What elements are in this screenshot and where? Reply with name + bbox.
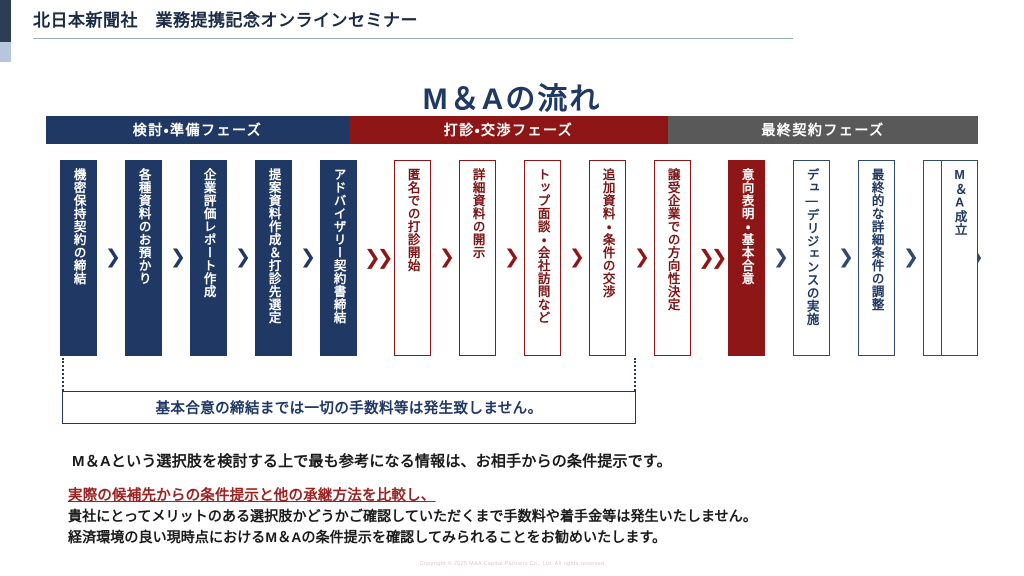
separator-chevron-7: ❯ <box>569 248 585 267</box>
separator-chevron-2: ❯ <box>170 248 186 267</box>
step-label-11: 意向表明・基本合意 <box>738 168 754 285</box>
body-line-2: 貴社にとってメリットのある選択肢かどうかご確認していただくまで手数料や着手金等は… <box>68 506 948 527</box>
step-box-4[interactable]: 提案資料作成＆打診先選定 <box>255 160 292 356</box>
phase-segment-final-contract: 最終契約フェーズ <box>668 116 978 144</box>
step-label-1: 機密保持契約の締結 <box>70 168 86 285</box>
fee-notice-callout: 基本合意の締結までは一切の手数料等は発生致しません。 <box>62 391 636 424</box>
step-box-11[interactable]: 意向表明・基本合意 <box>728 160 765 356</box>
step-box-14-dup <box>923 160 960 356</box>
phase-bar: 検討・準備フェーズ 打診・交渉フェーズ 最終契約フェーズ <box>46 116 978 144</box>
step-label-2: 各種資料のお預かり <box>135 168 151 285</box>
step-box-9[interactable]: 追加資料・条件の交渉 <box>589 160 626 356</box>
step-box-2[interactable]: 各種資料のお預かり <box>125 160 162 356</box>
body-line-3: 経済環境の良い現時点におけるM＆Aの条件提示を確認してみられることをお勧めいたし… <box>68 527 948 548</box>
header-divider <box>33 38 793 39</box>
page-title: M＆Aの流れ <box>0 74 1024 118</box>
step-box-6[interactable]: 匿名での打診開始 <box>394 160 431 356</box>
step-box-8[interactable]: トップ面談・会社訪問など <box>524 160 561 356</box>
flow-steps-row: 機密保持契約の締結 ❯ 各種資料のお預かり ❯ 企業評価レポート作成 ❯ 提案資… <box>46 160 978 360</box>
connector-dotted-right <box>634 358 636 391</box>
separator-chevron-9: ❯ <box>773 248 789 267</box>
step-label-10: 譲受企業での方向性決定 <box>664 168 680 311</box>
step-box-7[interactable]: 詳細資料の開示 <box>459 160 496 356</box>
body-line-emphasis: 実際の候補先からの条件提示と他の承継方法を比較し、 <box>68 486 948 506</box>
step-box-3[interactable]: 企業評価レポート作成 <box>190 160 227 356</box>
step-label-6: 匿名での打診開始 <box>404 168 420 272</box>
header-title: 北日本新聞社 業務提携記念オンラインセミナー <box>33 8 793 34</box>
step-label-3: 企業評価レポート作成 <box>200 168 216 298</box>
separator-chevron-4: ❯ <box>300 248 316 267</box>
phase-transition-chevron-2: ❯❯ <box>698 248 724 267</box>
step-box-1[interactable]: 機密保持契約の締結 <box>60 160 97 356</box>
slide-header: 北日本新聞社 業務提携記念オンラインセミナー <box>33 8 793 42</box>
body-paragraph: 実際の候補先からの条件提示と他の承継方法を比較し、 貴社にとってメリットのある選… <box>68 486 948 548</box>
left-accent-bar-light <box>0 42 11 62</box>
step-box-12[interactable]: デュ―デリジェンスの実施 <box>793 160 830 356</box>
slide-root: 北日本新聞社 業務提携記念オンラインセミナー M＆Aの流れ 検討・準備フェーズ … <box>0 0 1024 576</box>
separator-chevron-5: ❯ <box>439 248 455 267</box>
footer-copyright: Copyright © 2025 M&A Capital Partners Co… <box>0 561 1024 567</box>
step-box-10[interactable]: 譲受企業での方向性決定 <box>654 160 691 356</box>
separator-chevron-10: ❯ <box>838 248 854 267</box>
step-label-7: 詳細資料の開示 <box>469 168 485 259</box>
phase-segment-preparation: 検討・準備フェーズ <box>46 116 349 144</box>
lead-statement: M＆Aという選択肢を検討する上で最も参考になる情報は、お相手からの条件提示です。 <box>72 450 672 471</box>
separator-chevron-12: ❯ <box>968 248 984 267</box>
step-label-8: トップ面談・会社訪問など <box>534 168 550 324</box>
step-label-12: デュ―デリジェンスの実施 <box>803 168 819 326</box>
separator-chevron-8: ❯ <box>634 248 650 267</box>
step-box-13[interactable]: 最終的な詳細条件の調整 <box>858 160 895 356</box>
separator-chevron-1: ❯ <box>105 248 121 267</box>
step-label-4: 提案資料作成＆打診先選定 <box>265 168 281 324</box>
phase-transition-chevron-1: ❯❯ <box>364 248 390 267</box>
connector-dotted-left <box>62 358 64 391</box>
step-box-5[interactable]: アドバイザリー契約書締結 <box>320 160 357 356</box>
separator-chevron-11: ❯ <box>903 248 919 267</box>
step-label-5: アドバイザリー契約書締結 <box>330 168 346 324</box>
step-label-13: 最終的な詳細条件の調整 <box>868 168 884 311</box>
step-label-9: 追加資料・条件の交渉 <box>599 168 615 298</box>
phase-segment-negotiation: 打診・交渉フェーズ <box>349 116 668 144</box>
left-accent-bar-dark <box>0 0 11 42</box>
separator-chevron-6: ❯ <box>504 248 520 267</box>
separator-chevron-3: ❯ <box>235 248 251 267</box>
fee-notice-text: 基本合意の締結までは一切の手数料等は発生致しません。 <box>156 397 543 418</box>
